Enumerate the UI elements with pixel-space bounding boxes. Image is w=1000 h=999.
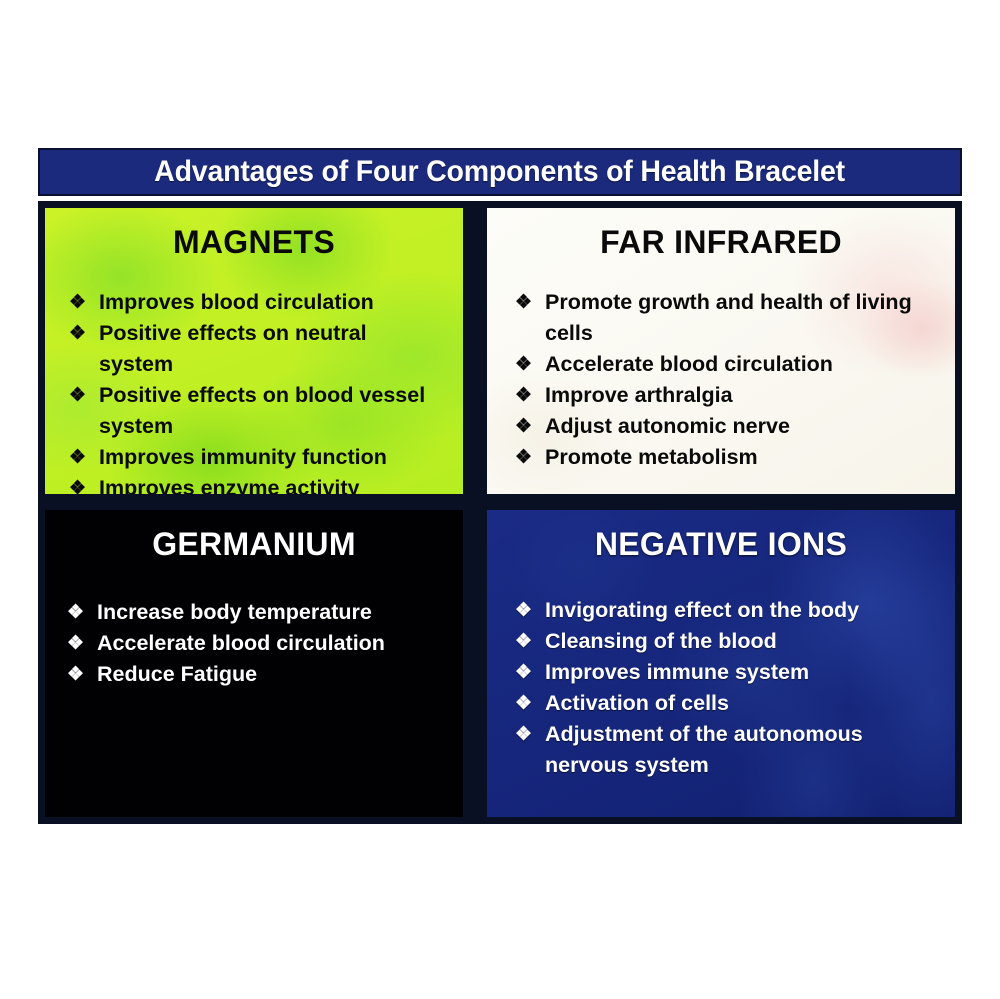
benefit-list-magnets: ❖ Improves blood circulation ❖ Positive … — [69, 287, 439, 496]
diamond-bullet-icon: ❖ — [515, 349, 545, 380]
list-item: ❖ Improves enzyme activity — [69, 473, 439, 496]
list-item: ❖ Adjustment of the autonomous nervous s… — [515, 719, 915, 781]
list-item-label: Invigorating effect on the body — [545, 595, 915, 626]
panel-negative-ions: NEGATIVE IONS ❖ Invigorating effect on t… — [485, 508, 957, 819]
diamond-bullet-icon: ❖ — [515, 287, 545, 318]
diamond-bullet-icon: ❖ — [515, 657, 545, 688]
panel-heading-far-infrared: FAR INFRARED — [487, 224, 955, 261]
page-title: Advantages of Four Components of Health … — [155, 155, 846, 189]
list-item-label: Improves blood circulation — [99, 287, 439, 318]
list-item-label: Accelerate blood circulation — [97, 628, 447, 659]
health-bracelet-infographic: Advantages of Four Components of Health … — [38, 148, 962, 824]
list-item-label: Improves immune system — [545, 657, 915, 688]
list-item: ❖ Reduce Fatigue — [67, 659, 447, 690]
list-item: ❖ Promote metabolism — [515, 442, 915, 473]
diamond-bullet-icon: ❖ — [515, 411, 545, 442]
list-item: ❖ Improves immune system — [515, 657, 915, 688]
list-item-label: Positive effects on blood vessel system — [99, 380, 439, 442]
diamond-bullet-icon: ❖ — [69, 287, 99, 318]
list-item-label: Promote metabolism — [545, 442, 915, 473]
diamond-bullet-icon: ❖ — [67, 597, 97, 628]
list-item-label: Increase body temperature — [97, 597, 447, 628]
benefit-list-germanium: ❖ Increase body temperature ❖ Accelerate… — [67, 597, 447, 690]
diamond-bullet-icon: ❖ — [69, 442, 99, 473]
list-item-label: Accelerate blood circulation — [545, 349, 915, 380]
diamond-bullet-icon: ❖ — [69, 473, 99, 496]
list-item: ❖ Improves blood circulation — [69, 287, 439, 318]
list-item: ❖ Adjust autonomic nerve — [515, 411, 915, 442]
panel-heading-negative-ions: NEGATIVE IONS — [487, 526, 955, 563]
list-item: ❖ Improves immunity function — [69, 442, 439, 473]
list-item: ❖ Improve arthralgia — [515, 380, 915, 411]
diamond-bullet-icon: ❖ — [515, 719, 545, 750]
benefit-list-far-infrared: ❖ Promote growth and health of living ce… — [515, 287, 915, 473]
infographic-title-bar: Advantages of Four Components of Health … — [38, 148, 962, 196]
list-item-label: Adjust autonomic nerve — [545, 411, 915, 442]
diamond-bullet-icon: ❖ — [69, 318, 99, 349]
list-item: ❖ Increase body temperature — [67, 597, 447, 628]
list-item-label: Improves enzyme activity — [99, 473, 439, 496]
panel-heading-magnets: MAGNETS — [45, 224, 463, 261]
list-item-label: Adjustment of the autonomous nervous sys… — [545, 719, 915, 781]
diamond-bullet-icon: ❖ — [67, 659, 97, 690]
list-item-label: Positive effects on neutral system — [99, 318, 439, 380]
diamond-bullet-icon: ❖ — [67, 628, 97, 659]
diamond-bullet-icon: ❖ — [515, 595, 545, 626]
list-item: ❖ Promote growth and health of living ce… — [515, 287, 915, 349]
list-item: ❖ Accelerate blood circulation — [67, 628, 447, 659]
panel-magnets: MAGNETS ❖ Improves blood circulation ❖ P… — [43, 206, 465, 496]
diamond-bullet-icon: ❖ — [515, 380, 545, 411]
panel-heading-germanium: GERMANIUM — [45, 526, 463, 563]
list-item-label: Improve arthralgia — [545, 380, 915, 411]
list-item: ❖ Cleansing of the blood — [515, 626, 915, 657]
panel-germanium: GERMANIUM ❖ Increase body temperature ❖ … — [43, 508, 465, 819]
list-item: ❖ Invigorating effect on the body — [515, 595, 915, 626]
list-item: ❖ Positive effects on neutral system — [69, 318, 439, 380]
list-item-label: Cleansing of the blood — [545, 626, 915, 657]
diamond-bullet-icon: ❖ — [515, 688, 545, 719]
panel-far-infrared: FAR INFRARED ❖ Promote growth and health… — [485, 206, 957, 496]
list-item-label: Improves immunity function — [99, 442, 439, 473]
diamond-bullet-icon: ❖ — [515, 442, 545, 473]
list-item-label: Promote growth and health of living cell… — [545, 287, 915, 349]
list-item-label: Activation of cells — [545, 688, 915, 719]
list-item: ❖ Positive effects on blood vessel syste… — [69, 380, 439, 442]
list-item-label: Reduce Fatigue — [97, 659, 447, 690]
diamond-bullet-icon: ❖ — [69, 380, 99, 411]
list-item: ❖ Activation of cells — [515, 688, 915, 719]
benefit-list-negative-ions: ❖ Invigorating effect on the body ❖ Clea… — [515, 595, 915, 781]
list-item: ❖ Accelerate blood circulation — [515, 349, 915, 380]
diamond-bullet-icon: ❖ — [515, 626, 545, 657]
